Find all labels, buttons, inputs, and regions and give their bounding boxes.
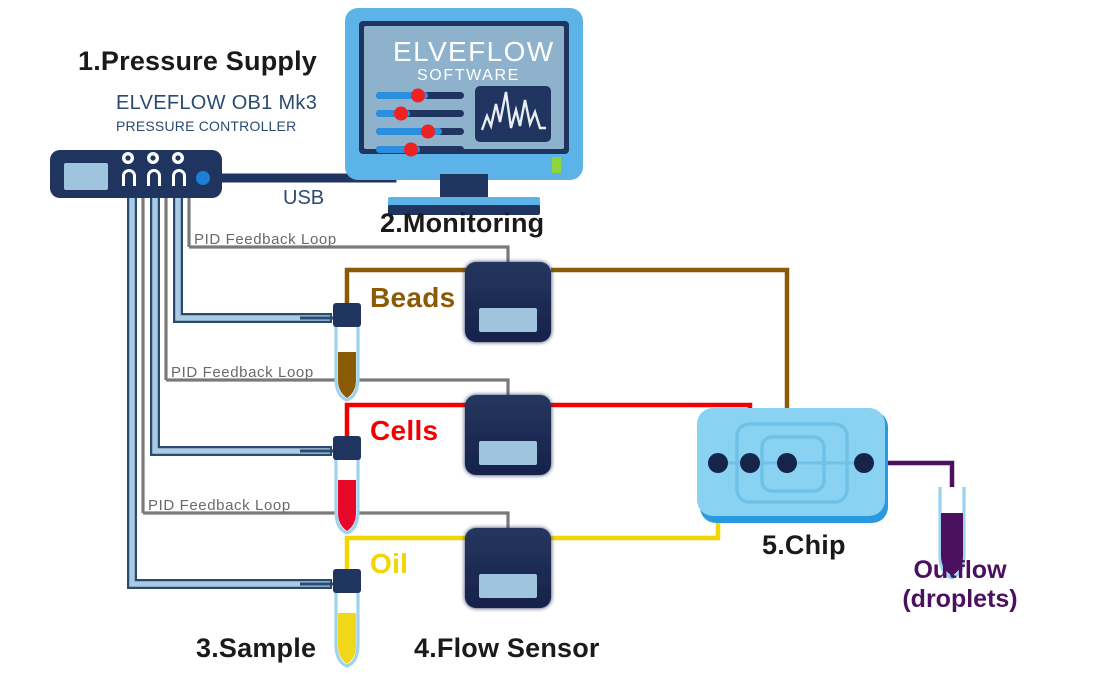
power-led-icon	[552, 157, 561, 173]
controller-usb-port[interactable]	[196, 171, 210, 185]
outflow-label-line2: (droplets)	[880, 585, 1040, 614]
flow-sensor-display	[479, 574, 537, 598]
controller-display	[64, 163, 108, 190]
chip-port-oil[interactable]	[708, 453, 728, 473]
channel-label-oil: Oil	[370, 548, 408, 580]
software-subtitle: SOFTWARE	[417, 67, 520, 85]
software-title: ELVEFLOW	[393, 36, 555, 68]
controller-subtitle: PRESSURE CONTROLLER	[116, 118, 296, 134]
diagram-canvas: 1.Pressure Supply ELVEFLOW OB1 Mk3 PRESS…	[0, 0, 1100, 696]
step-label-pressure-supply: 1.Pressure Supply	[78, 46, 317, 77]
step-label-chip: 5.Chip	[762, 530, 846, 561]
pressure-controller-device[interactable]	[50, 150, 222, 198]
pressure-line-oil-outline	[132, 190, 332, 584]
chip-port-cells[interactable]	[740, 453, 760, 473]
sample-tube-cells[interactable]	[333, 436, 361, 533]
sample-tube-oil[interactable]	[333, 569, 361, 666]
outflow-label: Outflow (droplets)	[880, 556, 1040, 614]
pressure-supply-lines	[132, 190, 334, 584]
chip-port-outlet[interactable]	[854, 453, 874, 473]
pid-feedback-label-3: PID Feedback Loop	[148, 497, 291, 514]
software-waveform-graph	[475, 86, 551, 142]
flow-sensor-cells[interactable]	[465, 395, 551, 475]
pid-feedback-label-1: PID Feedback Loop	[194, 231, 337, 248]
usb-cable-label: USB	[283, 187, 324, 210]
flow-sensor-beads[interactable]	[465, 262, 551, 342]
chip-port-beads[interactable]	[777, 453, 797, 473]
flow-sensor-oil[interactable]	[465, 528, 551, 608]
pressure-line-oil-fill	[132, 190, 330, 584]
tube-cap-icon	[333, 303, 361, 327]
channel-label-beads: Beads	[370, 282, 456, 314]
channel-label-cells: Cells	[370, 415, 438, 447]
sample-tube-beads[interactable]	[333, 303, 361, 400]
pid-feedback-line-1b	[189, 247, 508, 267]
step-label-flow-sensor: 4.Flow Sensor	[414, 633, 600, 664]
pid-feedback-label-2: PID Feedback Loop	[171, 364, 314, 381]
flow-sensor-display	[479, 441, 537, 465]
tube-cap-icon	[333, 569, 361, 593]
step-label-monitoring: 2.Monitoring	[380, 208, 544, 239]
step-label-sample: 3.Sample	[196, 633, 316, 664]
outflow-label-line1: Outflow	[880, 556, 1040, 585]
controller-model-name: ELVEFLOW OB1 Mk3	[116, 92, 317, 115]
flow-sensor-display	[479, 308, 537, 332]
tube-cap-icon	[333, 436, 361, 460]
pid-feedback-line-3b	[143, 513, 508, 533]
microfluidic-chip[interactable]	[697, 408, 888, 523]
